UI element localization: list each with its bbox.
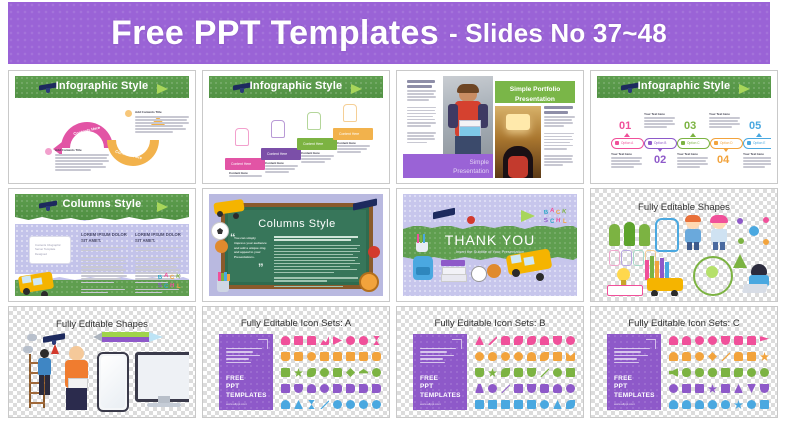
book-open-icon[interactable] bbox=[359, 384, 368, 393]
person-walk-icon[interactable] bbox=[475, 336, 484, 345]
slide-canvas: Infographic Style 01 02 03 04 05 Option … bbox=[597, 76, 771, 178]
person-icon[interactable] bbox=[307, 384, 316, 393]
option-icon bbox=[747, 141, 751, 145]
marker-dot-a bbox=[45, 148, 52, 155]
banner-main-title: Free PPT Templates bbox=[111, 14, 439, 53]
slide-grid: Infographic Style Contents Here Contents… bbox=[8, 70, 778, 420]
clock-icon[interactable] bbox=[320, 384, 329, 393]
monitor-base-icon bbox=[147, 403, 181, 407]
music-note-icon[interactable] bbox=[307, 368, 316, 377]
graduation-cap-icon bbox=[433, 208, 455, 220]
bubble-text: Contents Infographic Server Template Des… bbox=[35, 243, 65, 256]
book-open-icon[interactable] bbox=[333, 384, 342, 393]
school-bus-illustration bbox=[17, 268, 55, 294]
apple-icon[interactable] bbox=[320, 368, 329, 377]
option-label: Option C bbox=[687, 141, 700, 145]
lungs-icon[interactable] bbox=[501, 352, 510, 361]
tent-icon[interactable] bbox=[734, 384, 743, 393]
gear-icon[interactable] bbox=[708, 384, 717, 393]
cloud-icon bbox=[23, 346, 33, 353]
step-label: Content Here bbox=[303, 142, 323, 146]
card-placeholder-lines bbox=[226, 348, 265, 365]
marker-dot-b bbox=[125, 110, 132, 117]
chalkboard-frame: Columns Style You can simply impress you… bbox=[221, 203, 373, 289]
page-banner: Free PPT Templates - Slides No 37~48 bbox=[8, 2, 770, 64]
photo-hallway bbox=[495, 106, 541, 178]
column-1: LOREM IPSUM DOLOR SIT AMET. bbox=[81, 232, 129, 295]
flask-icon[interactable] bbox=[475, 384, 484, 393]
portfolio-right-text bbox=[544, 106, 576, 168]
step-bar-1: Content Here bbox=[225, 158, 265, 170]
scissors-icon[interactable] bbox=[294, 368, 303, 377]
sofa-icon[interactable] bbox=[294, 352, 303, 361]
ear-icon[interactable] bbox=[540, 352, 549, 361]
step-label: Content Here bbox=[267, 152, 287, 156]
ruler-icon bbox=[93, 332, 167, 344]
droplet-icon[interactable] bbox=[721, 400, 730, 409]
card-url: www.allppt.com bbox=[226, 402, 247, 406]
slide-canvas: Fully Editable Icon Sets: C FREEPPTTEMPL… bbox=[597, 312, 771, 412]
leaf-icon[interactable] bbox=[346, 368, 355, 377]
school-bus-icon bbox=[647, 278, 685, 296]
globe-icon[interactable] bbox=[346, 336, 355, 345]
boy-character-icon bbox=[681, 216, 705, 250]
smartphone-icon[interactable] bbox=[97, 352, 129, 412]
cloud-icon[interactable] bbox=[553, 384, 562, 393]
option-icon bbox=[714, 141, 718, 145]
pencil-icon[interactable] bbox=[320, 400, 329, 409]
man-woman-icon[interactable] bbox=[669, 336, 678, 345]
book-open-icon[interactable] bbox=[346, 384, 355, 393]
desktop-monitor-icon[interactable] bbox=[135, 352, 189, 402]
slide-title: Infographic Style bbox=[209, 80, 383, 92]
slide-thumbnail[interactable]: Columns Style Contents Infographic Serve… bbox=[8, 188, 196, 302]
envelope-icon[interactable] bbox=[294, 336, 303, 345]
youtube-icon[interactable] bbox=[527, 400, 536, 409]
option-label: Option D bbox=[720, 141, 733, 145]
tablet-icon[interactable] bbox=[333, 352, 342, 361]
lightbulb-book-icon bbox=[607, 268, 641, 294]
slide-canvas: Fully Editable Icon Sets: A FREEPPTTEMPL… bbox=[209, 312, 383, 412]
slide-thumbnail[interactable]: Fully Editable Shapes bbox=[590, 188, 778, 302]
firstaid-icon[interactable] bbox=[514, 368, 523, 377]
woman-icon[interactable] bbox=[669, 352, 678, 361]
trash-icon[interactable] bbox=[359, 352, 368, 361]
hourglass-icon[interactable] bbox=[307, 400, 316, 409]
slide-canvas: Fully Editable Icon Sets: B FREEPPTTEMPL… bbox=[403, 312, 577, 412]
dna-icon[interactable] bbox=[566, 352, 575, 361]
apple-icon bbox=[368, 246, 380, 258]
spine-icon[interactable] bbox=[553, 352, 562, 361]
megaphone-icon[interactable] bbox=[333, 336, 342, 345]
slide-canvas: Infographic Style Content Here Content H… bbox=[209, 76, 383, 178]
slide-canvas: Columns Style You can simply impress you… bbox=[209, 194, 383, 296]
slide-canvas: Fully Editable Shapes bbox=[597, 194, 771, 296]
boy-climbing-icon bbox=[36, 349, 52, 395]
water-drop-icon[interactable] bbox=[708, 400, 717, 409]
syringe-icon[interactable] bbox=[540, 368, 549, 377]
quote-text: You can simply impress your audience and… bbox=[234, 236, 268, 260]
book-icon[interactable] bbox=[333, 368, 342, 377]
female-symbol-icon[interactable] bbox=[708, 336, 717, 345]
preview-page: Free PPT Templates - Slides No 37~48 Inf… bbox=[0, 0, 786, 423]
power-icon[interactable] bbox=[747, 368, 756, 377]
muscle-icon[interactable] bbox=[501, 336, 510, 345]
slide-thumbnail[interactable]: Fully Editable Icon Sets: B FREEPPTTEMPL… bbox=[396, 306, 584, 418]
card-url: www.allppt.com bbox=[420, 402, 441, 406]
lamp-icon[interactable] bbox=[307, 352, 316, 361]
phone-icon[interactable] bbox=[734, 368, 743, 377]
frame-icon[interactable] bbox=[320, 352, 329, 361]
icon-grid bbox=[281, 336, 383, 412]
torn-paper-edge bbox=[15, 216, 189, 224]
arrow-up-red-icon bbox=[51, 344, 59, 354]
heart-icon[interactable] bbox=[721, 336, 730, 345]
slide-title: Infographic Style bbox=[15, 80, 189, 92]
portfolio-text-column bbox=[403, 76, 443, 152]
unlock-icon[interactable] bbox=[734, 352, 743, 361]
school-bus-icon bbox=[213, 197, 247, 215]
step-bar-3: Content Here bbox=[297, 138, 337, 150]
slide-canvas: Columns Style Contents Infographic Serve… bbox=[15, 194, 189, 296]
slide-thumbnail[interactable]: Infographic Style Content Here Content H… bbox=[202, 70, 390, 184]
magnifier-icon[interactable] bbox=[488, 384, 497, 393]
step-number: 04 bbox=[717, 154, 729, 166]
option-pill[interactable]: Option A bbox=[611, 138, 644, 149]
pinterest-icon[interactable] bbox=[488, 400, 497, 409]
option-pill[interactable]: Option E bbox=[743, 138, 771, 149]
slide-canvas: THANK YOU Insert the Subtitle of Your Pr… bbox=[403, 194, 577, 296]
slide-canvas: Simple PortfolioPresentation bbox=[403, 76, 577, 178]
caption-a-heading: Add Contents Title bbox=[55, 148, 82, 152]
search-icon[interactable] bbox=[372, 368, 381, 377]
sprout-icon[interactable] bbox=[501, 368, 510, 377]
fingerprint-icon[interactable] bbox=[695, 352, 704, 361]
step-number: 05 bbox=[749, 120, 761, 132]
smiley-icon[interactable] bbox=[346, 400, 355, 409]
person-icon[interactable] bbox=[682, 336, 691, 345]
linkedin-icon[interactable] bbox=[475, 400, 484, 409]
trophy-icon[interactable] bbox=[281, 400, 290, 409]
dollar-icon[interactable] bbox=[540, 384, 549, 393]
hand-three-icon bbox=[307, 112, 321, 130]
slide-thumbnail[interactable]: Simple PortfolioPresentation bbox=[396, 70, 584, 184]
step-label: Content Here bbox=[339, 132, 359, 136]
column-heading: LOREM IPSUM DOLOR SIT AMET. bbox=[135, 232, 183, 245]
brain-icon[interactable] bbox=[475, 352, 484, 361]
school-bus-icon bbox=[505, 246, 553, 278]
step-bar-4: Content Here bbox=[333, 128, 373, 140]
slide-thumbnail[interactable]: THANK YOU Insert the Subtitle of Your Pr… bbox=[396, 188, 584, 302]
pin-icon[interactable] bbox=[294, 400, 303, 409]
speaker-icon[interactable] bbox=[669, 368, 678, 377]
calculator-icon[interactable] bbox=[346, 352, 355, 361]
step-number: 02 bbox=[654, 154, 666, 166]
slide-title: Infographic Style bbox=[597, 80, 771, 92]
network-diagram-icon bbox=[737, 216, 771, 248]
hourglass-icon[interactable] bbox=[372, 336, 381, 345]
soccer-ball-icon bbox=[471, 266, 487, 282]
leg-icon[interactable] bbox=[514, 336, 523, 345]
back-to-school-badge: B A C K S C H L bbox=[543, 206, 573, 228]
stomach-icon[interactable] bbox=[514, 352, 523, 361]
step-label: Content Here bbox=[231, 162, 251, 166]
kidney-icon[interactable] bbox=[527, 352, 536, 361]
slide-canvas: Fully Editable Shapes bbox=[15, 312, 189, 412]
foot-icon[interactable] bbox=[527, 336, 536, 345]
anchor-icon[interactable] bbox=[747, 384, 756, 393]
cloud-icon[interactable] bbox=[669, 400, 678, 409]
people-silhouettes-icon bbox=[609, 220, 653, 248]
graduation-cap-icon bbox=[353, 197, 379, 213]
basketball-icon bbox=[487, 264, 501, 278]
column-heading: LOREM IPSUM DOLOR SIT AMET. bbox=[81, 232, 129, 245]
thermometer-icon[interactable] bbox=[760, 400, 769, 409]
books-icon bbox=[645, 256, 671, 280]
slide-title: Fully Editable Shapes bbox=[597, 202, 771, 213]
arrow-up-icon[interactable] bbox=[708, 352, 717, 361]
chat-bubble-icon[interactable] bbox=[372, 352, 381, 361]
briefcase-icon[interactable] bbox=[307, 336, 316, 345]
step-number: 01 bbox=[619, 120, 631, 132]
hand-outline-icon bbox=[655, 218, 679, 252]
heart-icon[interactable] bbox=[527, 384, 536, 393]
tooth-icon[interactable] bbox=[553, 336, 562, 345]
runner-icon[interactable] bbox=[566, 368, 575, 377]
virus-icon[interactable] bbox=[488, 368, 497, 377]
caption-b-heading: Add Contents Title bbox=[135, 110, 162, 114]
slide-row-1: Infographic Style Contents Here Contents… bbox=[8, 70, 778, 184]
slide-thumbnail[interactable]: Fully Editable Shapes bbox=[8, 306, 196, 418]
option-label: Option A bbox=[621, 141, 633, 145]
option-label: Option E bbox=[753, 141, 765, 145]
torn-paper-edge bbox=[597, 98, 771, 106]
chart-growth-icon[interactable] bbox=[320, 336, 329, 345]
option-icon bbox=[615, 141, 619, 145]
email-at-icon[interactable] bbox=[540, 400, 549, 409]
portfolio-title-band: Simple PortfolioPresentation bbox=[495, 81, 575, 103]
brand-card: FREEPPTTEMPLATES www.allppt.com bbox=[413, 334, 467, 410]
house-icon[interactable] bbox=[747, 336, 756, 345]
torn-paper-edge bbox=[209, 98, 383, 106]
banner-sub-title: - Slides No 37~48 bbox=[449, 18, 667, 49]
woman-with-books-icon bbox=[61, 346, 91, 410]
chalkboard-surface: Columns Style You can simply impress you… bbox=[228, 210, 366, 282]
slide-thumbnail[interactable]: Fully Editable Icon Sets: C FREEPPTTEMPL… bbox=[590, 306, 778, 418]
tree-icon[interactable] bbox=[553, 400, 562, 409]
hand-two-icon bbox=[271, 120, 285, 138]
basketball-icon bbox=[215, 240, 228, 253]
stopwatch-icon[interactable] bbox=[566, 384, 575, 393]
battery-icon[interactable] bbox=[682, 368, 691, 377]
building-icon[interactable] bbox=[281, 368, 290, 377]
checklist-icon[interactable] bbox=[281, 384, 290, 393]
boy-laptop-icon bbox=[743, 264, 771, 296]
shield-icon[interactable] bbox=[294, 384, 303, 393]
boat-icon[interactable] bbox=[760, 384, 769, 393]
cloud-icon bbox=[27, 334, 37, 341]
slide-title: Columns Style bbox=[228, 218, 366, 230]
plant-icon[interactable] bbox=[566, 400, 575, 409]
thermometer-icon[interactable] bbox=[721, 384, 730, 393]
portfolio-footer-band: SimplePresentationDesigned bbox=[403, 154, 493, 178]
slide-title: Fully Editable Icon Sets: C bbox=[597, 318, 771, 329]
back-to-school-badge: B A C K S C H L bbox=[156, 271, 186, 293]
bottle-icon[interactable] bbox=[475, 368, 484, 377]
flag-icon[interactable] bbox=[760, 336, 769, 345]
slide-title: Fully Editable Icon Sets: B bbox=[403, 318, 577, 329]
building-icon[interactable] bbox=[747, 352, 756, 361]
graduation-cap-icon[interactable] bbox=[359, 368, 368, 377]
pencil-cup-icon bbox=[213, 272, 233, 292]
pill-caption-heading: Your Text Here bbox=[644, 112, 665, 116]
lock-icon[interactable] bbox=[682, 352, 691, 361]
tools-icon[interactable] bbox=[760, 352, 769, 361]
head-icon[interactable] bbox=[488, 352, 497, 361]
slide-title: Fully Editable Icon Sets: A bbox=[209, 318, 383, 329]
smiley-icon[interactable] bbox=[333, 400, 342, 409]
torn-paper-edge bbox=[15, 98, 189, 106]
slide-title: Fully Editable Shapes bbox=[15, 319, 189, 330]
clock-icon bbox=[359, 272, 379, 292]
photo-student bbox=[443, 76, 493, 162]
slide-title: Columns Style bbox=[15, 198, 189, 210]
option-pill[interactable]: Option C bbox=[677, 138, 710, 149]
slide-thumbnail[interactable]: Infographic Style Contents Here Contents… bbox=[8, 70, 196, 184]
book-open-icon[interactable] bbox=[372, 384, 381, 393]
brand-card: FREEPPTTEMPLATES www.allppt.com bbox=[607, 334, 661, 410]
card-brand: FREEPPTTEMPLATES bbox=[420, 375, 461, 401]
recycle-icon[interactable] bbox=[760, 368, 769, 377]
girl-character-icon bbox=[707, 216, 731, 250]
brand-card: FREEPPTTEMPLATES www.allppt.com bbox=[219, 334, 273, 410]
option-icon bbox=[681, 141, 685, 145]
option-label: Option B bbox=[654, 141, 666, 145]
moon-icon[interactable] bbox=[747, 400, 756, 409]
card-placeholder-lines bbox=[420, 348, 459, 365]
image-icon[interactable] bbox=[695, 384, 704, 393]
graduation-cap-icon bbox=[43, 332, 65, 345]
slide-thumbnail[interactable]: Fully Editable Icon Sets: A FREEPPTTEMPL… bbox=[202, 306, 390, 418]
pill-caption-heading: Your Text Here bbox=[677, 152, 698, 156]
speech-bubble: Contents Infographic Server Template Des… bbox=[29, 236, 71, 264]
slide-thumbnail[interactable]: Infographic Style 01 02 03 04 05 Option … bbox=[590, 70, 778, 184]
thumbs-up-icon[interactable] bbox=[281, 336, 290, 345]
slide-row-3: Fully Editable Shapes bbox=[8, 306, 778, 418]
icon-grid bbox=[669, 336, 771, 412]
heart-icon[interactable] bbox=[527, 368, 536, 377]
record-icon[interactable] bbox=[669, 384, 678, 393]
sun-icon[interactable] bbox=[734, 400, 743, 409]
step-number: 03 bbox=[684, 120, 696, 132]
soccer-ball-icon bbox=[211, 222, 229, 240]
paper-plane-icon bbox=[521, 210, 535, 222]
pill-caption-heading: Your Text Here bbox=[743, 152, 764, 156]
battery-half-icon[interactable] bbox=[695, 368, 704, 377]
green-circle-icon bbox=[693, 256, 733, 296]
facebook-icon[interactable] bbox=[501, 400, 510, 409]
books-icon bbox=[441, 260, 465, 280]
card-brand: FREEPPTTEMPLATES bbox=[614, 375, 655, 401]
smiley-icon[interactable] bbox=[359, 400, 368, 409]
printer-icon[interactable] bbox=[281, 352, 290, 361]
cloud-rain-icon[interactable] bbox=[682, 400, 691, 409]
slide-thumbnail[interactable]: Columns Style You can simply impress you… bbox=[202, 188, 390, 302]
battery-full-icon[interactable] bbox=[708, 368, 717, 377]
icon-grid bbox=[475, 336, 577, 412]
slide-row-2: Columns Style Contents Infographic Serve… bbox=[8, 188, 778, 302]
apple-icon bbox=[467, 216, 475, 224]
signal-icon[interactable] bbox=[721, 368, 730, 377]
hand-one-icon bbox=[235, 128, 249, 146]
male-symbol-icon[interactable] bbox=[695, 336, 704, 345]
eye-icon[interactable] bbox=[566, 336, 575, 345]
arm-icon[interactable] bbox=[488, 336, 497, 345]
hand-four-icon bbox=[343, 104, 357, 122]
card-placeholder-lines bbox=[614, 348, 653, 365]
bandage-icon[interactable] bbox=[514, 384, 523, 393]
balloon-icon[interactable] bbox=[359, 336, 368, 345]
umbrella-icon[interactable] bbox=[540, 336, 549, 345]
smiley-icon[interactable] bbox=[372, 400, 381, 409]
twitter-icon[interactable] bbox=[514, 400, 523, 409]
card-url: www.allppt.com bbox=[614, 402, 635, 406]
process-arc-a bbox=[61, 122, 113, 148]
pen-icon[interactable] bbox=[721, 352, 730, 361]
pill-caption-heading: Your Text Here bbox=[611, 152, 632, 156]
step-bar-2: Content Here bbox=[261, 148, 301, 160]
backpack-icon bbox=[413, 256, 433, 280]
card-brand: FREEPPTTEMPLATES bbox=[226, 375, 267, 401]
tweezers-icon[interactable] bbox=[501, 384, 510, 393]
slide-canvas: Infographic Style Contents Here Contents… bbox=[15, 76, 189, 178]
play-video-icon[interactable] bbox=[682, 384, 691, 393]
pill-caption-heading: Your Text Here bbox=[709, 112, 730, 116]
pencil-cup-icon bbox=[413, 234, 431, 252]
camera-icon[interactable] bbox=[734, 336, 743, 345]
option-icon bbox=[648, 141, 652, 145]
wheel-icon[interactable] bbox=[553, 368, 562, 377]
cloud-snow-icon[interactable] bbox=[695, 400, 704, 409]
